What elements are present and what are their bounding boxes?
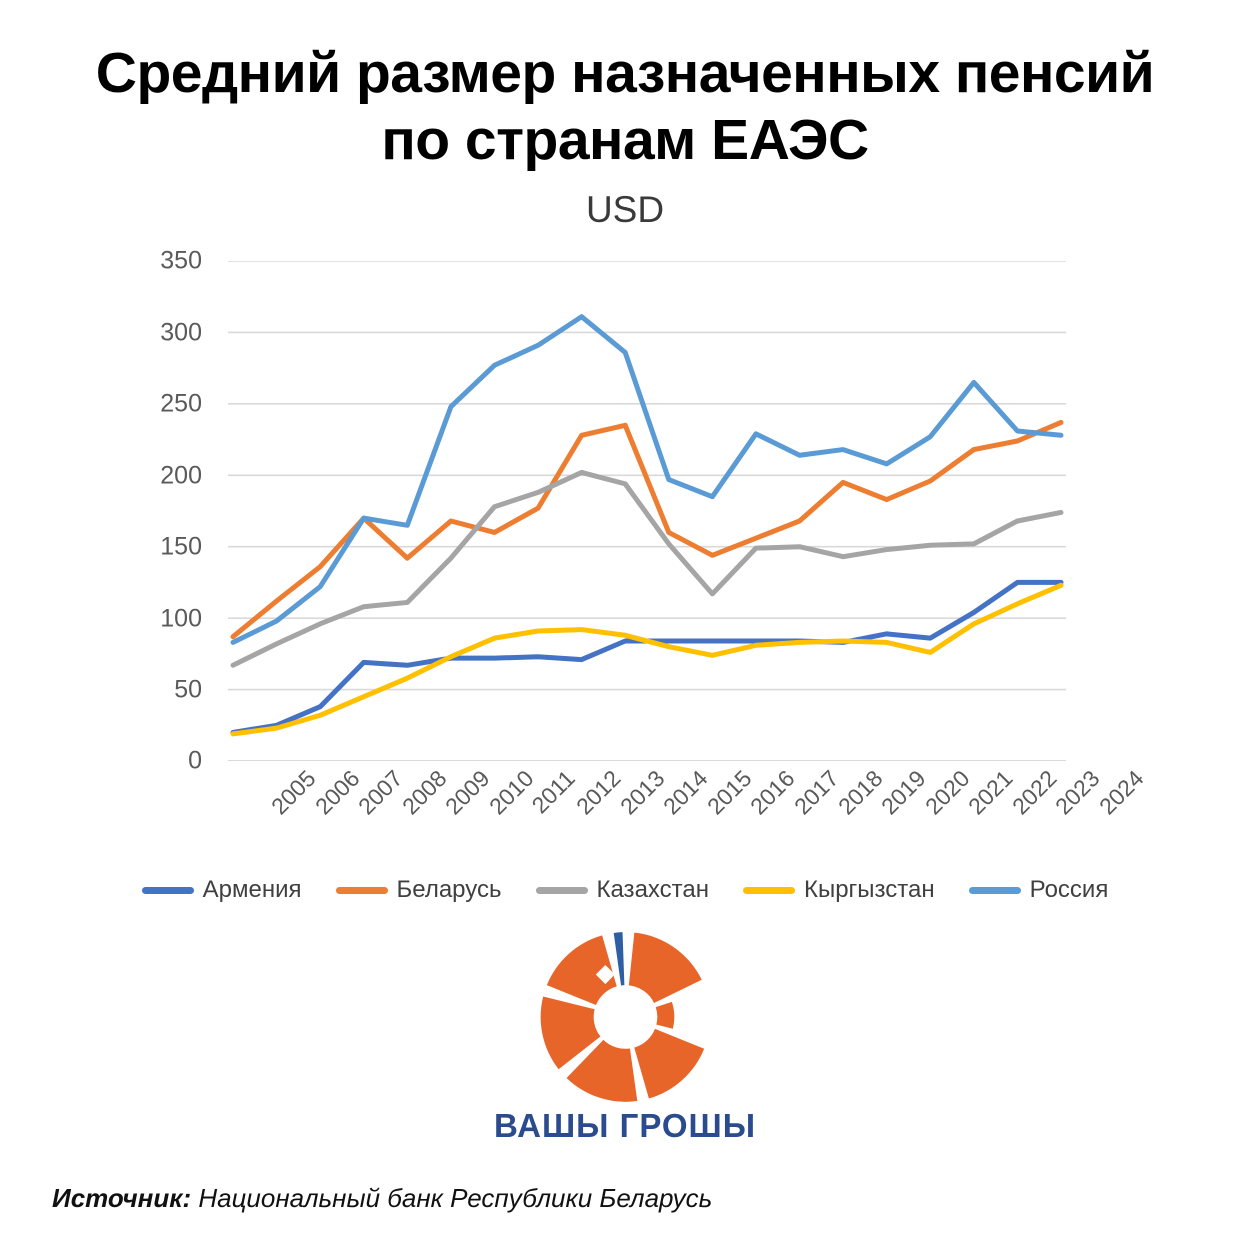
x-axis-labels: 2005200620072008200920102011201220132014…	[228, 765, 1066, 861]
legend-swatch-icon	[536, 887, 588, 894]
x-tick-label: 2020	[920, 765, 975, 820]
x-tick-label: 2008	[397, 765, 452, 820]
chart-legend: АрменияБеларусьКазахстанКыргызстанРоссия	[0, 876, 1250, 904]
legend-label: Казахстан	[597, 876, 709, 904]
legend-label: Беларусь	[397, 876, 502, 904]
legend-label: Россия	[1030, 876, 1109, 904]
legend-item-россия[interactable]: Россия	[969, 876, 1109, 904]
legend-item-казахстан[interactable]: Казахстан	[536, 876, 709, 904]
x-tick-label: 2022	[1007, 765, 1062, 820]
y-tick-label: 150	[160, 533, 202, 562]
logo-segment	[628, 933, 701, 1003]
y-axis-labels: 050100150200250300350	[0, 245, 226, 777]
legend-item-беларусь[interactable]: Беларусь	[336, 876, 502, 904]
x-tick-label: 2016	[745, 765, 800, 820]
y-tick-label: 350	[160, 247, 202, 276]
y-tick-label: 100	[160, 604, 202, 633]
source-note: Источник: Национальный банк Республики Б…	[52, 1183, 712, 1214]
logo-text: ВАШЫ ГРОШЫ	[494, 1107, 756, 1145]
x-tick-label: 2018	[833, 765, 888, 820]
y-tick-label: 200	[160, 461, 202, 490]
x-tick-label: 2019	[876, 765, 931, 820]
x-tick-label: 2015	[702, 765, 757, 820]
page-title: Средний размер назначенных пенсий по стр…	[95, 40, 1155, 173]
chart-subtitle: USD	[0, 189, 1250, 231]
legend-item-кыргызстан[interactable]: Кыргызстан	[743, 876, 935, 904]
plot-region	[228, 261, 1066, 761]
source-text: Национальный банк Республики Беларусь	[191, 1183, 712, 1213]
source-label: Источник:	[52, 1183, 191, 1213]
x-tick-label: 2010	[484, 765, 539, 820]
y-tick-label: 0	[188, 747, 202, 776]
line-chart-svg	[228, 261, 1066, 761]
x-tick-label: 2017	[789, 765, 844, 820]
legend-label: Кыргызстан	[804, 876, 935, 904]
logo-segment	[634, 1029, 704, 1099]
x-tick-label: 2023	[1050, 765, 1105, 820]
x-tick-label: 2012	[571, 765, 626, 820]
legend-swatch-icon	[743, 887, 795, 894]
brand-logo: ВАШЫ ГРОШЫ	[0, 930, 1250, 1145]
x-tick-label: 2024	[1094, 765, 1149, 820]
title-block: Средний размер назначенных пенсий по стр…	[0, 0, 1250, 231]
infographic-page: Средний размер назначенных пенсий по стр…	[0, 0, 1250, 1250]
logo-segment	[655, 1002, 674, 1029]
x-tick-label: 2006	[310, 765, 365, 820]
x-tick-label: 2005	[266, 765, 321, 820]
y-tick-label: 50	[174, 675, 202, 704]
legend-swatch-icon	[969, 887, 1021, 894]
chart-area: 050100150200250300350 200520062007200820…	[0, 245, 1250, 865]
x-tick-label: 2011	[527, 765, 581, 819]
y-tick-label: 250	[160, 390, 202, 419]
x-tick-label: 2009	[440, 765, 495, 820]
legend-swatch-icon	[142, 887, 194, 894]
series-line-армения	[233, 583, 1061, 733]
logo-ornament-segment	[613, 932, 624, 985]
x-tick-label: 2013	[615, 765, 670, 820]
x-tick-label: 2021	[963, 765, 1018, 820]
y-tick-label: 300	[160, 318, 202, 347]
legend-label: Армения	[203, 876, 302, 904]
legend-item-армения[interactable]: Армения	[142, 876, 302, 904]
legend-swatch-icon	[336, 887, 388, 894]
x-tick-label: 2007	[353, 765, 408, 820]
x-tick-label: 2014	[658, 765, 713, 820]
wheel-logo-icon	[518, 930, 733, 1105]
